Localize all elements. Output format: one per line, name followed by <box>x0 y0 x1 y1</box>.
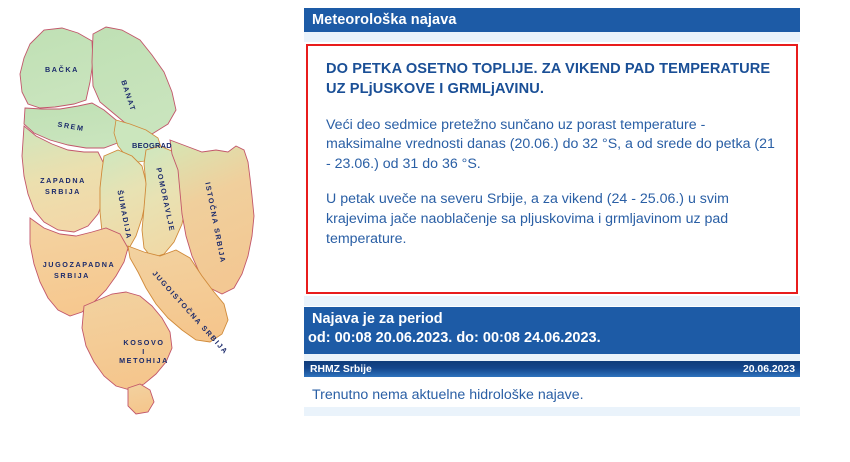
alert-under-strip <box>304 296 800 306</box>
map-label-i: I <box>142 347 146 356</box>
alert-paragraph-1: Veći deo sedmice pretežno sunčano uz por… <box>326 116 776 175</box>
map-label-srbija: SRBIJA <box>45 187 81 196</box>
bulletin-content-column: Meteorološka najava DO PETKA OSETNO TOPL… <box>302 0 802 462</box>
period-under-strip <box>304 354 800 361</box>
meteo-alert-box: DO PETKA OSETNO TOPLIJE. ZA VIKEND PAD T… <box>306 44 798 294</box>
map-label-beograd: BEOGRAD <box>132 141 172 150</box>
region-south-tip <box>128 384 154 414</box>
source-name: RHMZ Srbije <box>310 364 372 375</box>
hydro-note: Trenutno nema aktuelne hidrološke najave… <box>304 384 800 406</box>
title-under-strip <box>304 32 800 42</box>
source-bar: RHMZ Srbije 20.06.2023 <box>304 361 800 377</box>
weather-bulletin-page: BAČKABANATSREMZAPADNASRBIJAŠUMADIJAPOMOR… <box>0 0 850 462</box>
map-label-metohija: METOHIJA <box>119 356 169 365</box>
map-label-kosovo: KOSOVO <box>123 338 164 347</box>
map-label-zapadna: ZAPADNA <box>40 176 86 185</box>
alert-paragraph-2: U petak uveče na severu Srbije, a za vik… <box>326 190 776 249</box>
alert-headline: DO PETKA OSETNO TOPLIJE. ZA VIKEND PAD T… <box>326 60 776 100</box>
map-svg: BAČKABANATSREMZAPADNASRBIJAŠUMADIJAPOMOR… <box>0 0 292 462</box>
map-label-srbija: SRBIJA <box>54 271 90 280</box>
page-title: Meteorološka najava <box>304 12 457 28</box>
period-title: Najava je za period <box>308 310 800 329</box>
map-label-jugozapadna: JUGOZAPADNA <box>43 260 116 269</box>
hydro-under-strip <box>304 407 800 416</box>
meteo-title-bar: Meteorološka najava <box>304 8 800 32</box>
serbia-region-map: BAČKABANATSREMZAPADNASRBIJAŠUMADIJAPOMOR… <box>0 0 292 462</box>
source-date: 20.06.2023 <box>743 364 795 375</box>
period-range: od: 00:08 20.06.2023. do: 00:08 24.06.20… <box>308 329 800 348</box>
validity-period-bar: Najava je za period od: 00:08 20.06.2023… <box>304 307 800 354</box>
map-label-ba-ka: BAČKA <box>45 65 79 74</box>
